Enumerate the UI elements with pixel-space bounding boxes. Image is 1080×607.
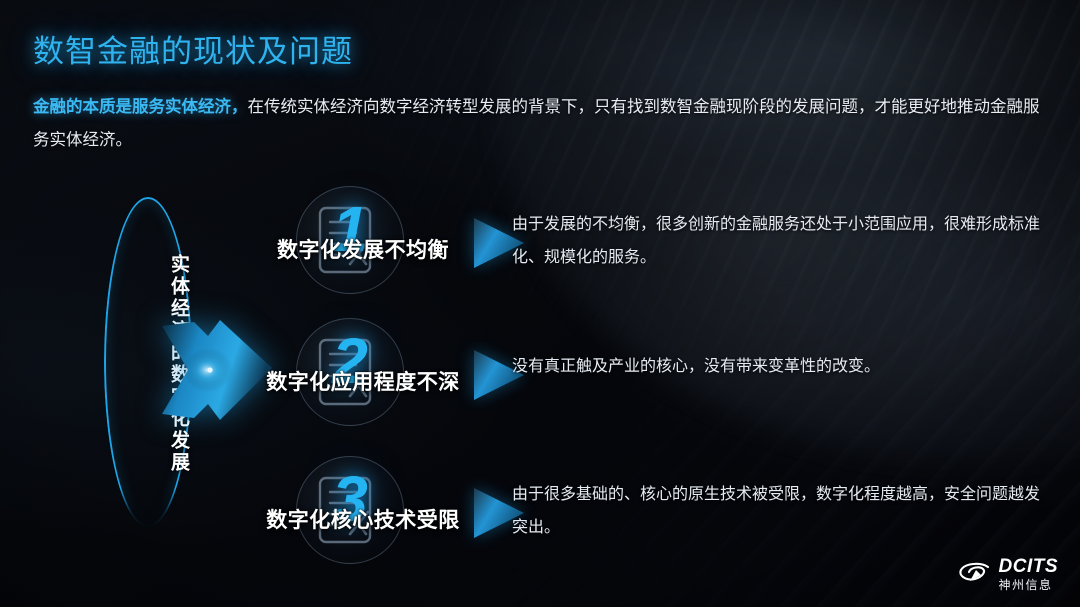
item-title: 数字化应用程度不深 (258, 366, 468, 396)
item-title: 数字化核心技术受限 (258, 504, 468, 534)
logo-name-en: DCITS (999, 557, 1059, 576)
presentation-slide: 数智金融的现状及问题 金融的本质是服务实体经济，在传统实体经济向数字经济转型发展… (0, 0, 1080, 607)
item-description: 由于发展的不均衡，很多创新的金融服务还处于小范围应用，很难形成标准化、规模化的服… (512, 208, 1052, 274)
item-title: 数字化发展不均衡 (258, 234, 468, 264)
logo-text-block: DCITS 神州信息 (999, 557, 1059, 591)
company-logo: DCITS 神州信息 (957, 557, 1059, 591)
logo-name-cn: 神州信息 (999, 579, 1059, 591)
item-description: 没有真正触及产业的核心，没有带来变革性的改变。 (512, 350, 1052, 383)
item-description: 由于很多基础的、核心的原生技术被受限，数字化程度越高，安全问题越发突出。 (512, 478, 1052, 544)
intro-lead-text: 金融的本质是服务实体经济， (33, 98, 248, 116)
intro-paragraph: 金融的本质是服务实体经济，在传统实体经济向数字经济转型发展的背景下，只有找到数智… (33, 91, 1048, 157)
page-title: 数智金融的现状及问题 (33, 26, 353, 71)
dcits-swirl-icon (957, 561, 991, 587)
